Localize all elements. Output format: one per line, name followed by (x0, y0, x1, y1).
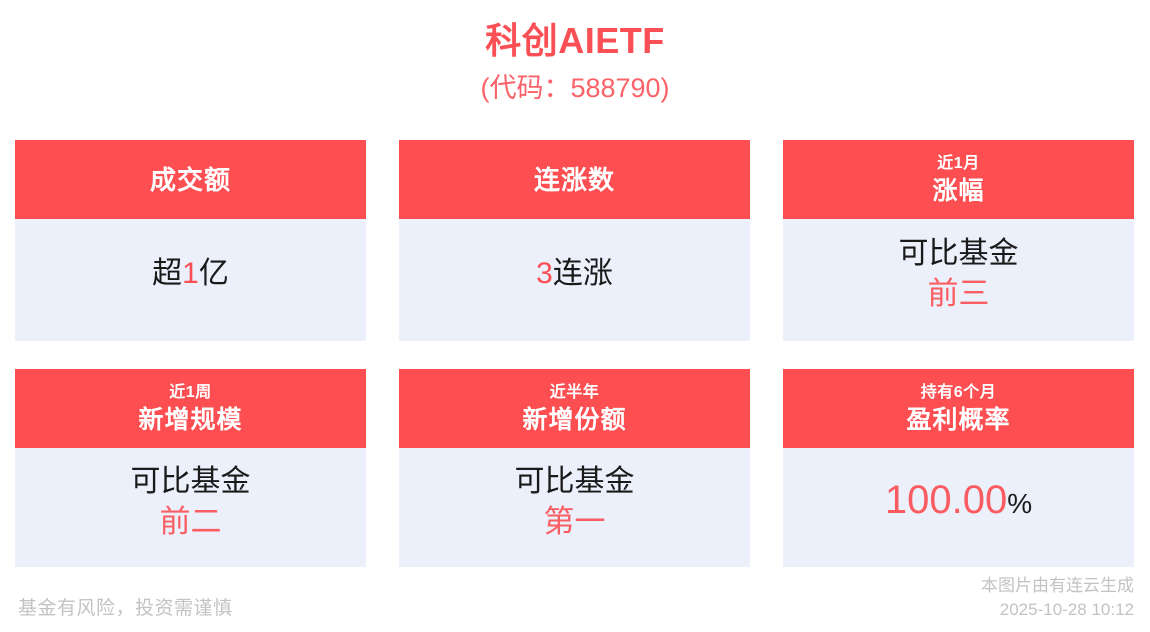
card-body: 可比基金 第一 (399, 448, 750, 567)
card-header: 近1月 涨幅 (783, 140, 1134, 219)
credit-source: 本图片由有连云生成 (981, 574, 1134, 598)
page-footer: 基金有风险，投资需谨慎 本图片由有连云生成 2025-10-28 10:12 (0, 570, 1150, 632)
card-eyebrow: 近半年 (550, 382, 600, 404)
fund-code-subtitle: (代码：588790) (0, 68, 1150, 108)
card-eyebrow: 持有6个月 (921, 382, 996, 404)
card-heading: 连涨数 (534, 163, 615, 197)
card-heading: 盈利概率 (906, 404, 1010, 436)
metric-card-consecutive-gains[interactable]: 连涨数 3连涨 (399, 140, 750, 341)
card-header: 近1周 新增规模 (15, 369, 366, 448)
card-value: 100.00% (885, 475, 1032, 529)
risk-disclaimer: 基金有风险，投资需谨慎 (18, 596, 233, 622)
card-value-rank: 前二 (160, 502, 222, 542)
card-value: 可比基金 (899, 234, 1019, 274)
card-value: 可比基金 (131, 462, 251, 502)
card-value-rank: 第一 (544, 502, 606, 542)
metric-card-halfyear-share-growth[interactable]: 近半年 新增份额 可比基金 第一 (399, 369, 750, 567)
card-heading: 新增规模 (138, 404, 242, 436)
card-heading: 成交额 (150, 163, 231, 197)
card-body: 可比基金 前二 (15, 448, 366, 567)
value-suffix: 连涨 (553, 257, 613, 290)
card-body: 超1亿 (15, 219, 366, 341)
card-value: 可比基金 (515, 462, 635, 502)
metric-card-profit-probability[interactable]: 持有6个月 盈利概率 100.00% (783, 369, 1134, 567)
card-eyebrow: 近1周 (169, 382, 211, 404)
value-prefix: 超 (152, 257, 182, 290)
card-eyebrow: 近1月 (937, 153, 979, 175)
card-header: 近半年 新增份额 (399, 369, 750, 448)
metric-card-turnover[interactable]: 成交额 超1亿 (15, 140, 366, 341)
metric-card-weekly-scale-growth[interactable]: 近1周 新增规模 可比基金 前二 (15, 369, 366, 567)
metric-card-monthly-gain[interactable]: 近1月 涨幅 可比基金 前三 (783, 140, 1134, 341)
card-body: 可比基金 前三 (783, 219, 1134, 341)
card-value: 超1亿 (152, 254, 229, 294)
value-suffix: 亿 (199, 257, 229, 290)
card-body: 3连涨 (399, 219, 750, 341)
page-title: 科创AIETF (0, 18, 1150, 64)
image-credit: 本图片由有连云生成 2025-10-28 10:12 (981, 574, 1134, 622)
card-body: 100.00% (783, 448, 1134, 567)
value-unit: % (1007, 488, 1032, 519)
value-accent: 3 (536, 257, 553, 290)
card-header: 持有6个月 盈利概率 (783, 369, 1134, 448)
card-heading: 新增份额 (522, 404, 626, 436)
metric-cards-grid: 成交额 超1亿 连涨数 3连涨 近1月 涨幅 可比基金 前三 近1周 新增规模 (15, 140, 1135, 567)
card-header: 成交额 (15, 140, 366, 219)
card-value: 3连涨 (536, 254, 613, 294)
credit-timestamp: 2025-10-28 10:12 (981, 598, 1134, 622)
value-accent: 1 (182, 257, 199, 290)
card-header: 连涨数 (399, 140, 750, 219)
value-number: 100.00 (885, 478, 1007, 522)
page-header: 科创AIETF (代码：588790) (0, 0, 1150, 108)
card-heading: 涨幅 (932, 175, 984, 207)
card-value-rank: 前三 (928, 274, 990, 314)
